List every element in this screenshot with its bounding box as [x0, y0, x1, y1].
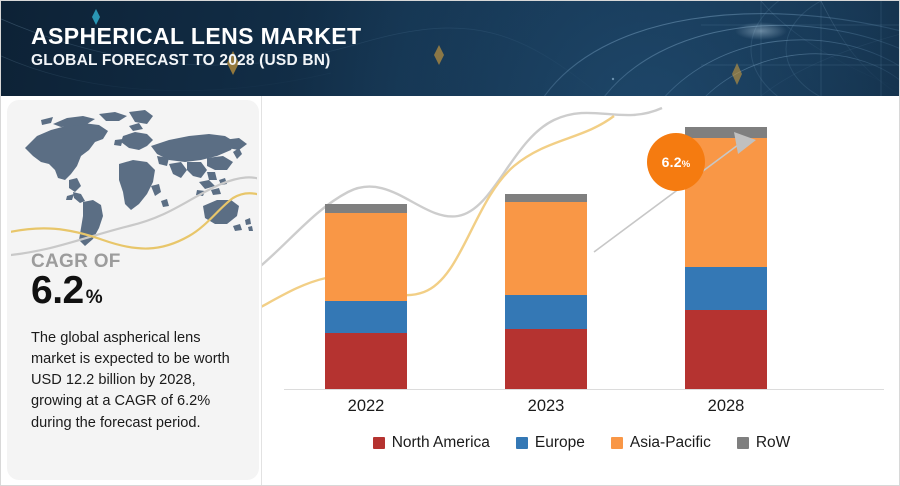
legend-swatch-north-america [373, 437, 385, 449]
cagr-unit: % [86, 287, 103, 309]
cagr-value: 6.2 [31, 271, 84, 312]
world-map-icon [11, 106, 257, 258]
bar-segment-row [325, 204, 407, 213]
cagr-block: CAGR OF 6.2 % [31, 252, 241, 312]
legend-swatch-asia-pacific [611, 437, 623, 449]
market-description: The global aspherical lens market is exp… [31, 328, 236, 434]
bar-segment-north-america [505, 329, 587, 389]
legend-item-row[interactable]: RoW [737, 434, 790, 452]
content-area: CAGR OF 6.2 % The global aspherical lens… [1, 96, 900, 486]
legend-item-north-america[interactable]: North America [373, 434, 490, 452]
page-title: ASPHERICAL LENS MARKET [31, 23, 361, 49]
sidebar-panel: CAGR OF 6.2 % The global aspherical lens… [7, 100, 259, 480]
header-text-block: ASPHERICAL LENS MARKET GLOBAL FORECAST T… [31, 23, 361, 70]
x-tick-2022: 2022 [306, 397, 426, 416]
bar-group-2022 [325, 204, 407, 389]
bar-segment-asia-pacific [325, 213, 407, 301]
legend-label-europe: Europe [535, 434, 585, 452]
cagr-callout-text: 6.2% [662, 154, 691, 170]
legend-label-north-america: North America [392, 434, 490, 452]
cagr-value-row: 6.2 % [31, 271, 241, 312]
legend-swatch-row [737, 437, 749, 449]
bar-segment-europe [685, 267, 767, 310]
x-axis-labels: 2022 2023 2028 [284, 393, 884, 421]
world-map-container [11, 106, 257, 258]
x-axis-line [284, 389, 884, 390]
bar-segment-europe [325, 301, 407, 333]
legend-item-europe[interactable]: Europe [516, 434, 585, 452]
page-subtitle: GLOBAL FORECAST TO 2028 (USD BN) [31, 52, 361, 70]
chart-legend: North America Europe Asia-Pacific RoW [262, 434, 900, 452]
bar-segment-north-america [685, 310, 767, 389]
bar-segment-north-america [325, 333, 407, 389]
bars-plot-area [284, 110, 884, 389]
chart-panel: 2022 2023 2028 6.2% North America Europe [262, 96, 900, 486]
cagr-callout-bubble: 6.2% [647, 133, 705, 191]
bar-segment-europe [505, 295, 587, 329]
bar-group-2023 [505, 194, 587, 389]
bar-segment-asia-pacific [505, 202, 587, 294]
bar-segment-row [505, 194, 587, 203]
legend-label-row: RoW [756, 434, 790, 452]
header-banner: ASPHERICAL LENS MARKET GLOBAL FORECAST T… [1, 1, 900, 96]
infographic-root: ASPHERICAL LENS MARKET GLOBAL FORECAST T… [0, 0, 900, 486]
x-tick-2028: 2028 [666, 397, 786, 416]
legend-label-asia-pacific: Asia-Pacific [630, 434, 711, 452]
legend-swatch-europe [516, 437, 528, 449]
x-tick-2023: 2023 [486, 397, 606, 416]
legend-item-asia-pacific[interactable]: Asia-Pacific [611, 434, 711, 452]
